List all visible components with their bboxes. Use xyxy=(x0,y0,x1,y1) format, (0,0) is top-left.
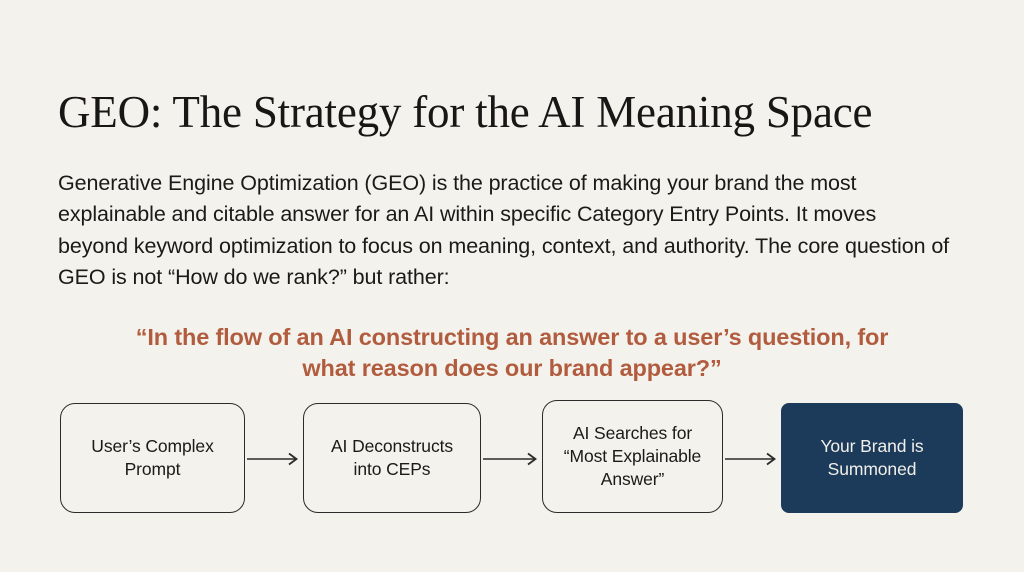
flow-node-label: User’s Complex Prompt xyxy=(81,435,223,481)
flow-node-label: AI Deconstructs into CEPs xyxy=(321,435,463,481)
flow-node-label: AI Searches for “Most Explainable Answer… xyxy=(554,422,711,491)
flow-arrow-1 xyxy=(247,451,303,467)
flow-arrow-3 xyxy=(725,451,781,467)
flow-node-ai-searches-for-most-explainable-answer[interactable]: AI Searches for “Most Explainable Answer… xyxy=(542,400,723,513)
flow-node-label: Your Brand is Summoned xyxy=(810,435,933,481)
flow-arrow-2 xyxy=(483,451,542,467)
flow-node-ai-deconstructs-into-ceps[interactable]: AI Deconstructs into CEPs xyxy=(303,403,481,513)
flow-node-your-brand-is-summoned[interactable]: Your Brand is Summoned xyxy=(781,403,963,513)
pull-quote: “In the flow of an AI constructing an an… xyxy=(120,322,904,385)
page-title: GEO: The Strategy for the AI Meaning Spa… xyxy=(58,87,978,137)
body-paragraph: Generative Engine Optimization (GEO) is … xyxy=(58,168,950,294)
flow-node-users-complex-prompt[interactable]: User’s Complex Prompt xyxy=(60,403,245,513)
slide-canvas: GEO: The Strategy for the AI Meaning Spa… xyxy=(0,0,1024,572)
